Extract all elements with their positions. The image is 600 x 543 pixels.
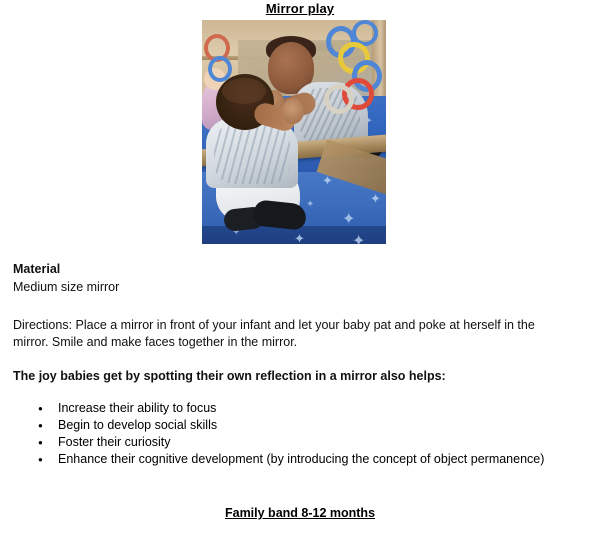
list-item: Begin to develop social skills	[38, 417, 544, 434]
footer-band-label: Family band 8-12 months	[0, 506, 600, 520]
material-value: Medium size mirror	[13, 279, 119, 296]
material-label: Material	[13, 261, 60, 278]
list-item: Enhance their cognitive development (by …	[38, 451, 544, 468]
baby-hand	[282, 98, 304, 124]
mat-star-icon: ✦	[342, 212, 355, 228]
mat-star-icon: ✦	[306, 200, 314, 210]
mat-star-icon: ✦	[294, 232, 305, 244]
mirror-play-photo: ✦ ✦ ✦ ✦ ✦ ✦ ✦ ✦ ✦ ✦ ✦ ✦ ✦ ✦ ✦ ✦ ✦ ✦	[202, 20, 386, 244]
benefits-list: Increase their ability to focus Begin to…	[38, 400, 544, 468]
page-title: Mirror play	[0, 1, 600, 16]
list-item: Foster their curiosity	[38, 434, 544, 451]
directions-paragraph: Directions: Place a mirror in front of y…	[13, 317, 573, 351]
mat-star-icon: ✦	[352, 234, 365, 244]
toy-ring-icon	[208, 56, 232, 82]
photo-canvas: ✦ ✦ ✦ ✦ ✦ ✦ ✦ ✦ ✦ ✦ ✦ ✦ ✦ ✦ ✦ ✦ ✦ ✦	[202, 20, 386, 244]
toy-ring-icon	[324, 84, 354, 114]
list-item: Increase their ability to focus	[38, 400, 544, 417]
benefits-heading: The joy babies get by spotting their own…	[13, 368, 588, 385]
document-page: Mirror play ✦ ✦ ✦ ✦ ✦ ✦ ✦ ✦ ✦ ✦ ✦ ✦	[0, 0, 600, 543]
mat-star-icon: ✦	[370, 192, 381, 205]
